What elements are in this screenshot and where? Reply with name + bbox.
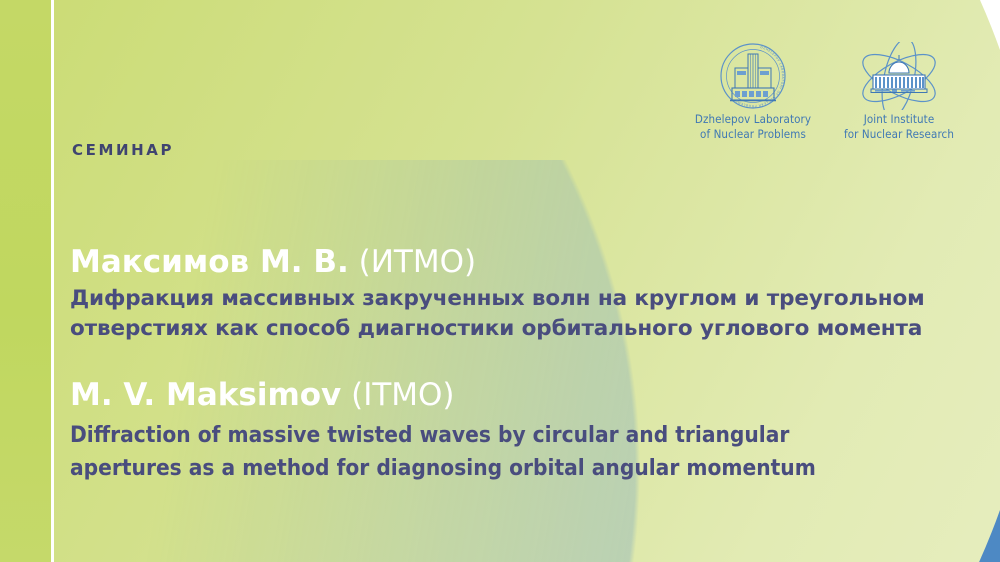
logo-caption-line2: of Nuclear Problems [694,127,812,142]
talk-title-ru-line1: Дифракция массивных закрученных волн на … [70,284,975,314]
logo-caption-line2: for Nuclear Research [840,127,958,142]
logo-jinr: Joint Institute for Nuclear Research [840,40,958,142]
speaker-affiliation-en: (ITMO) [341,377,454,413]
speaker-line-en: M. V. Maksimov (ITMO) [70,376,975,414]
talk-block-english: M. V. Maksimov (ITMO) Diffraction of mas… [70,376,975,485]
logo-caption-line1: Dzhelepov Laboratory [694,112,812,127]
talk-content: Максимов М. В. (ИТМО) Дифракция массивны… [70,243,975,485]
dzhelepov-laboratory-emblem-icon: DZHELEPOV LABORATORY OF NUCLEAR PROBLEMS [694,40,812,112]
talk-title-ru-line2: отверстиях как способ диагностики орбита… [70,314,975,344]
talk-title-en-line1: Diffraction of massive twisted waves by … [70,419,975,452]
logo-strip: DZHELEPOV LABORATORY OF NUCLEAR PROBLEMS… [694,0,1000,160]
logo-dzhelepov-laboratory: DZHELEPOV LABORATORY OF NUCLEAR PROBLEMS… [694,40,812,142]
background-left-green-strip [0,0,52,562]
speaker-name-ru: Максимов М. В. [70,244,349,280]
speaker-line-ru: Максимов М. В. (ИТМО) [70,243,975,281]
jinr-emblem-icon [840,40,958,112]
vertical-divider-line [51,0,54,562]
seminar-announcement-slide: DZHELEPOV LABORATORY OF NUCLEAR PROBLEMS… [0,0,1000,562]
speaker-name-en: M. V. Maksimov [70,377,341,413]
logo-caption-line1: Joint Institute [840,112,958,127]
kicker-label: СЕМИНАР [72,141,174,159]
speaker-affiliation-ru: (ИТМО) [349,244,476,280]
talk-title-en-line2: apertures as a method for diagnosing orb… [70,452,975,485]
talk-block-russian: Максимов М. В. (ИТМО) Дифракция массивны… [70,243,975,344]
